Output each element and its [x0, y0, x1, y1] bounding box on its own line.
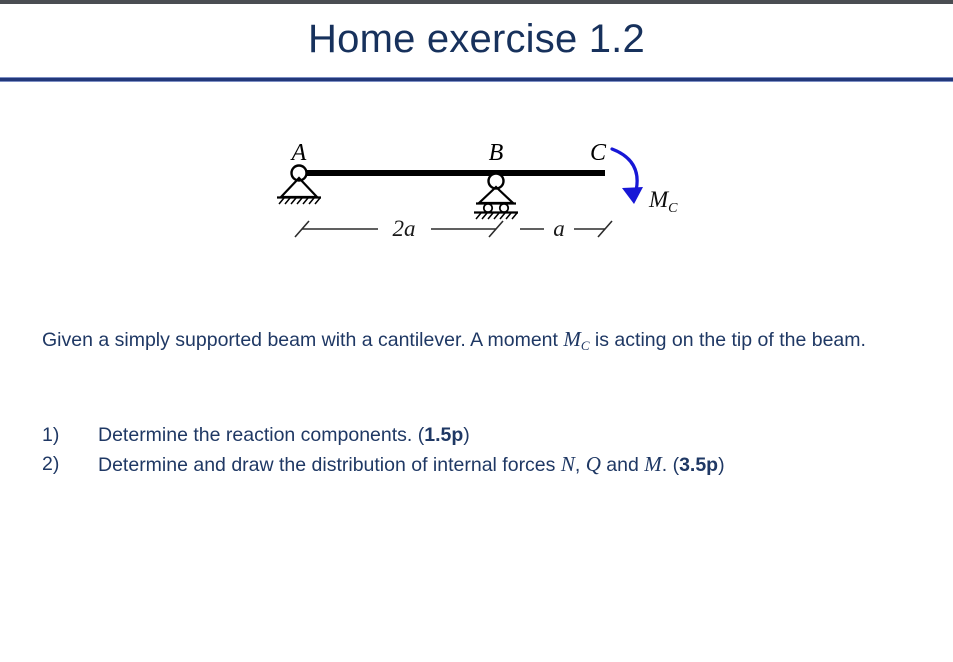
- task-2-description: Determine and draw the distribution of i…: [98, 454, 561, 476]
- title-divider-rule: [0, 77, 953, 82]
- task-1-marker: 1): [42, 421, 98, 450]
- task-2-text: Determine and draw the distribution of i…: [98, 450, 932, 480]
- task-1-points: 1.5p: [424, 424, 463, 446]
- statement-part-2: is acting on the tip of the beam.: [590, 329, 866, 351]
- slide-canvas: Home exercise 1.2: [0, 0, 953, 662]
- statement-part-1: Given a simply supported beam with a can…: [42, 329, 563, 351]
- dimension-label-2a: 2a: [393, 216, 416, 241]
- moment-label-mc: MC: [648, 187, 678, 216]
- top-accent-strip: [0, 0, 953, 4]
- figure-label-b: B: [489, 140, 504, 166]
- statement-symbol-m: M: [563, 327, 581, 351]
- figure-label-c: C: [590, 140, 607, 166]
- page-title: Home exercise 1.2: [0, 14, 953, 64]
- dimension-label-a: a: [553, 216, 565, 241]
- task-2-points: 3.5p: [679, 454, 718, 476]
- task-2-marker: 2): [42, 450, 98, 479]
- task-2-symbol-m: M: [644, 452, 662, 476]
- beam-member: [295, 170, 605, 176]
- task-2-separator-1: ,: [575, 454, 586, 476]
- task-2-separator-3: . (: [662, 454, 679, 476]
- task-1-description: Determine the reaction components. (: [98, 424, 424, 446]
- statement-symbol-mc: MC: [563, 327, 589, 351]
- moment-arrow-mc: [612, 149, 643, 204]
- task-list: 1) Determine the reaction components. (1…: [42, 421, 932, 480]
- task-2-symbol-q: Q: [586, 452, 601, 476]
- task-2-symbol-n: N: [561, 452, 575, 476]
- task-2-separator-2: and: [601, 454, 644, 476]
- task-2-closing: ): [718, 454, 725, 476]
- statement-symbol-subscript: C: [581, 338, 590, 353]
- task-item-2: 2) Determine and draw the distribution o…: [42, 450, 932, 480]
- support-roller-B: [474, 174, 518, 220]
- task-item-1: 1) Determine the reaction components. (1…: [42, 421, 932, 450]
- problem-statement: Given a simply supported beam with a can…: [42, 325, 922, 356]
- task-1-text: Determine the reaction components. (1.5p…: [98, 421, 932, 450]
- figure-label-a: A: [290, 140, 307, 166]
- beam-diagram-figure: A B C MC 2a a: [268, 128, 698, 258]
- task-1-closing: ): [463, 424, 470, 446]
